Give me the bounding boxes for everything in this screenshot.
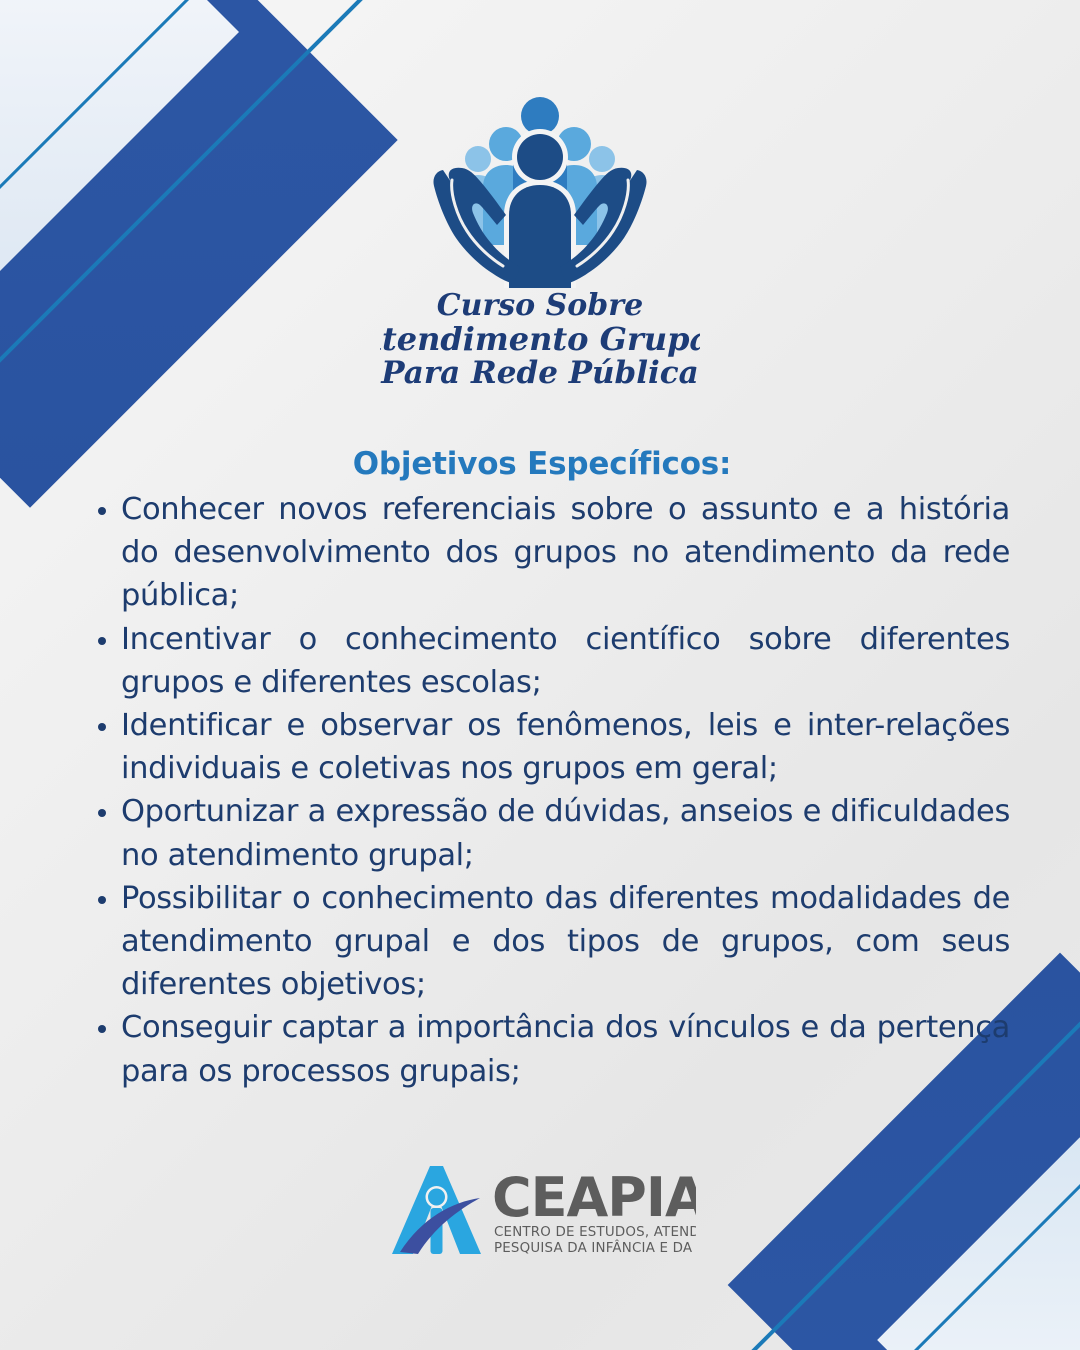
objective-item: Conseguir captar a importância dos víncu… (74, 1006, 1010, 1092)
objective-text: Conseguir captar a importância dos víncu… (121, 1010, 1010, 1088)
objective-item: Identificar e observar os fenômenos, lei… (74, 704, 1010, 790)
objective-item: Possibilitar o conhecimento das diferent… (74, 877, 1010, 1007)
ceapia-logo: CEAPIA CENTRO DE ESTUDOS, ATENDIMENTO E … (0, 1158, 1080, 1262)
objective-text: Incentivar o conhecimento científico sob… (121, 622, 1010, 700)
course-title-line-2: Atendimento Grupal (380, 320, 700, 358)
objectives-section: Objetivos Específicos: Conhecer novos re… (74, 446, 1010, 1093)
objective-item: Oportunizar a expressão de dúvidas, anse… (74, 790, 1010, 876)
ceapia-wordmark: CEAPIA (492, 1166, 696, 1229)
course-title-line-1: Curso Sobre (437, 288, 643, 323)
ceapia-a-mark (392, 1166, 481, 1254)
ceapia-tagline-line-2: PESQUISA DA INFÂNCIA E DA ADOLESCÊNCIA (494, 1238, 696, 1256)
hands-holding-people-icon (405, 96, 675, 288)
objectives-heading: Objetivos Específicos: (74, 446, 1010, 482)
ceapia-tagline-line-1: CENTRO DE ESTUDOS, ATENDIMENTO E (494, 1225, 696, 1240)
objective-item: Incentivar o conhecimento científico sob… (74, 618, 1010, 704)
objective-text: Possibilitar o conhecimento das diferent… (121, 881, 1010, 1002)
slide-canvas: Curso Sobre Atendimento Grupal Para Rede… (0, 0, 1080, 1350)
objective-text: Identificar e observar os fenômenos, lei… (121, 708, 1010, 786)
course-title-script: Curso Sobre Atendimento Grupal Para Rede… (380, 284, 700, 390)
course-logo: Curso Sobre Atendimento Grupal Para Rede… (0, 96, 1080, 390)
course-title-line-3: Para Rede Pública (380, 355, 699, 390)
objective-item: Conhecer novos referenciais sobre o assu… (74, 488, 1010, 618)
objective-text: Oportunizar a expressão de dúvidas, anse… (121, 794, 1010, 872)
objective-text: Conhecer novos referenciais sobre o assu… (121, 492, 1010, 613)
ceapia-logo-svg: CEAPIA CENTRO DE ESTUDOS, ATENDIMENTO E … (384, 1158, 696, 1262)
objectives-list: Conhecer novos referenciais sobre o assu… (74, 488, 1010, 1093)
